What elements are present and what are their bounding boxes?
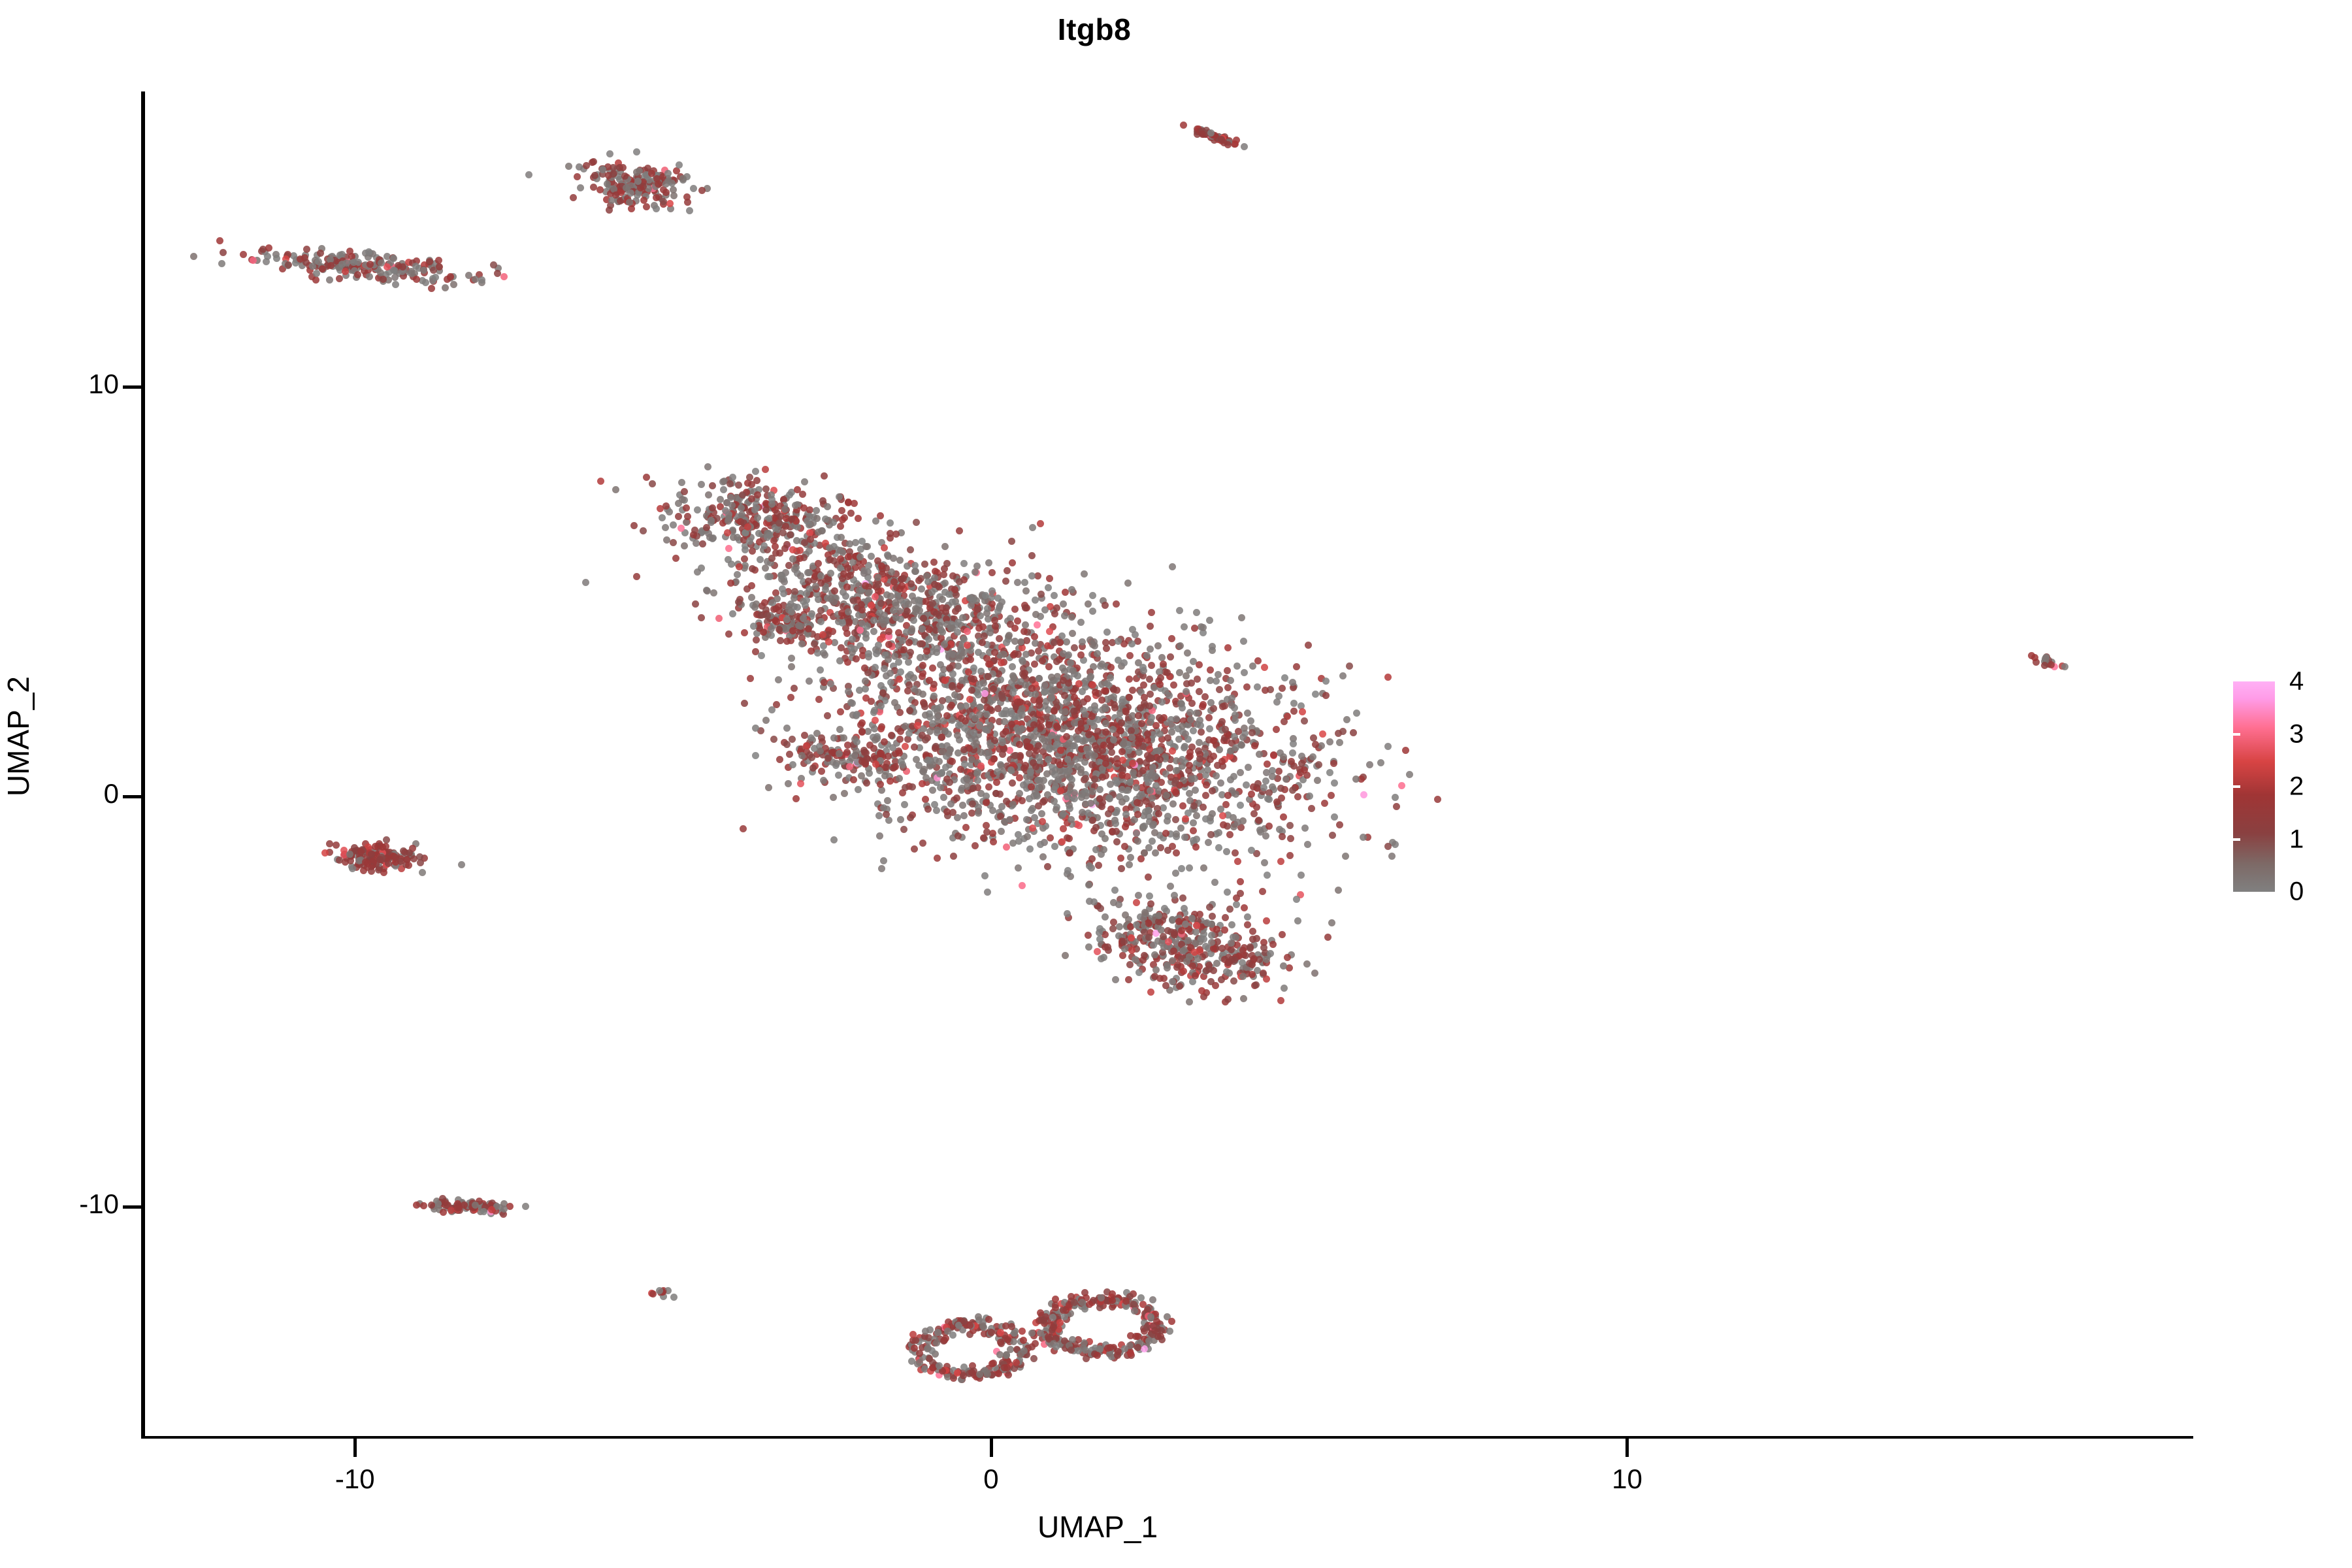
scatter-point <box>1360 791 1367 798</box>
scatter-point <box>977 612 984 619</box>
scatter-point <box>1051 610 1058 617</box>
scatter-point <box>420 1202 427 1209</box>
scatter-point <box>220 249 227 256</box>
scatter-point <box>896 775 903 782</box>
scatter-point <box>740 825 747 832</box>
scatter-point <box>1079 688 1086 695</box>
scatter-point <box>1062 952 1069 959</box>
scatter-point <box>1009 559 1016 566</box>
scatter-point <box>892 531 900 538</box>
scatter-point <box>788 608 795 615</box>
scatter-point <box>744 523 751 531</box>
scatter-point <box>1181 834 1188 841</box>
scatter-point <box>1144 730 1151 738</box>
scatter-point <box>327 262 335 269</box>
scatter-point <box>1133 899 1140 906</box>
scatter-point <box>837 547 844 554</box>
scatter-point <box>887 777 894 785</box>
scatter-point <box>800 615 807 622</box>
scatter-point <box>1263 975 1270 983</box>
scatter-point <box>1342 853 1349 860</box>
scatter-point <box>1277 785 1284 792</box>
scatter-point <box>894 593 901 600</box>
scatter-point <box>1053 604 1060 612</box>
scatter-point <box>1037 591 1045 598</box>
scatter-point <box>1045 584 1052 591</box>
scatter-point <box>1028 552 1036 559</box>
scatter-point <box>621 172 629 180</box>
scatter-point <box>931 574 938 581</box>
scatter-point <box>798 640 806 647</box>
scatter-point <box>1054 724 1061 731</box>
scatter-point <box>858 728 866 736</box>
scatter-point <box>937 661 944 668</box>
scatter-point <box>803 590 810 597</box>
scatter-point <box>1243 781 1250 789</box>
scatter-point <box>1199 131 1206 138</box>
scatter-point <box>1138 720 1145 727</box>
scatter-point <box>1172 816 1179 823</box>
scatter-point <box>987 629 994 636</box>
scatter-point <box>880 857 887 864</box>
scatter-point <box>1014 579 1021 586</box>
scatter-point <box>1213 960 1220 967</box>
scatter-point <box>955 832 962 840</box>
scatter-point <box>1186 762 1193 769</box>
scatter-point <box>326 276 333 284</box>
scatter-point <box>943 560 951 567</box>
scatter-point <box>1196 661 1203 668</box>
scatter-point <box>570 194 577 201</box>
scatter-point <box>786 751 793 758</box>
plot-panel <box>145 91 2193 1436</box>
scatter-point <box>1135 892 1142 899</box>
scatter-point <box>465 272 472 279</box>
scatter-point <box>1298 753 1305 760</box>
scatter-point <box>1022 621 1029 629</box>
scatter-point <box>662 180 670 188</box>
scatter-point <box>788 515 795 523</box>
scatter-point <box>998 692 1005 699</box>
scatter-point <box>1228 694 1235 702</box>
scatter-point <box>1249 936 1256 943</box>
scatter-point <box>902 723 909 730</box>
scatter-point <box>582 579 589 586</box>
scatter-point <box>1350 729 1357 736</box>
scatter-point <box>583 162 590 169</box>
scatter-point <box>949 683 956 691</box>
scatter-point <box>1015 651 1022 658</box>
scatter-point <box>1179 802 1186 809</box>
scatter-point <box>1067 659 1074 666</box>
scatter-point <box>1039 818 1046 825</box>
scatter-point <box>1129 760 1136 767</box>
scatter-point <box>703 524 710 531</box>
scatter-point <box>1126 779 1134 786</box>
scatter-point <box>1016 728 1023 735</box>
scatter-point <box>349 865 356 872</box>
scatter-point <box>670 1294 678 1301</box>
scatter-point <box>1107 743 1114 750</box>
scatter-point <box>836 750 843 757</box>
scatter-point <box>412 263 419 270</box>
scatter-point <box>1071 742 1078 749</box>
scatter-point <box>862 685 869 693</box>
scatter-point <box>1335 730 1342 737</box>
scatter-point <box>436 263 443 270</box>
scatter-point <box>490 261 497 269</box>
scatter-point <box>843 583 851 591</box>
scatter-point <box>850 776 857 783</box>
scatter-point <box>1233 901 1240 908</box>
scatter-point <box>910 617 917 624</box>
scatter-point <box>1015 864 1022 872</box>
scatter-point <box>858 772 865 779</box>
scatter-point <box>815 696 823 703</box>
scatter-point <box>1152 966 1160 973</box>
scatter-point <box>1098 803 1105 810</box>
scatter-point <box>887 679 894 686</box>
scatter-point <box>808 647 815 655</box>
scatter-point <box>911 743 918 751</box>
scatter-point <box>725 556 732 563</box>
scatter-point <box>1192 787 1199 794</box>
scatter-point <box>633 573 640 580</box>
scatter-point <box>955 605 962 612</box>
scatter-point <box>861 664 868 672</box>
scatter-point <box>1068 613 1075 621</box>
scatter-point <box>862 634 870 642</box>
scatter-point <box>2061 663 2068 670</box>
scatter-point <box>1262 687 1269 694</box>
scatter-point <box>1087 673 1094 680</box>
scatter-point <box>1298 872 1305 879</box>
scatter-point <box>1193 710 1200 717</box>
scatter-point <box>799 491 806 498</box>
scatter-point <box>1213 772 1220 779</box>
scatter-point <box>1170 947 1177 955</box>
scatter-point <box>1343 716 1350 723</box>
scatter-point <box>839 516 846 523</box>
scatter-point <box>1048 674 1055 681</box>
scatter-point <box>1135 749 1143 756</box>
scatter-point <box>936 583 943 591</box>
scatter-point <box>366 273 373 280</box>
scatter-point <box>892 763 899 770</box>
scatter-point <box>868 698 875 705</box>
scatter-point <box>819 631 826 638</box>
scatter-point <box>715 615 723 622</box>
scatter-point <box>1041 797 1048 804</box>
scatter-point <box>899 637 906 644</box>
scatter-point <box>1002 578 1009 585</box>
scatter-point <box>741 629 748 636</box>
scatter-point <box>1175 736 1183 743</box>
scatter-point <box>360 867 367 874</box>
scatter-point <box>1141 849 1148 857</box>
scatter-point <box>1011 606 1019 613</box>
scatter-point <box>442 284 449 291</box>
scatter-point <box>866 742 874 749</box>
scatter-point <box>1176 607 1183 614</box>
scatter-point <box>699 540 706 547</box>
scatter-point <box>991 649 998 656</box>
scatter-point <box>1037 841 1044 848</box>
scatter-point <box>1073 700 1080 707</box>
scatter-point <box>1117 855 1124 862</box>
scatter-point <box>1128 947 1135 954</box>
scatter-point <box>1146 676 1153 683</box>
scatter-point <box>1230 977 1237 985</box>
scatter-point <box>1186 998 1193 1005</box>
scatter-point <box>907 546 914 553</box>
scatter-point <box>1324 934 1331 941</box>
scatter-point <box>643 203 650 210</box>
scatter-point <box>1147 691 1154 698</box>
scatter-point <box>738 511 745 518</box>
scatter-point <box>993 779 1000 786</box>
scatter-point <box>876 767 883 774</box>
scatter-point <box>1026 795 1033 802</box>
scatter-point <box>338 251 346 258</box>
scatter-point <box>681 488 688 495</box>
scatter-point <box>576 163 583 171</box>
scatter-point <box>1060 825 1067 832</box>
scatter-point <box>1173 767 1180 774</box>
scatter-point <box>960 560 968 567</box>
scatter-point <box>838 534 845 541</box>
scatter-point <box>1198 987 1205 994</box>
scatter-point <box>1125 747 1132 754</box>
scatter-point <box>1070 708 1077 715</box>
scatter-point <box>1335 887 1342 894</box>
scatter-point <box>354 271 361 278</box>
scatter-point <box>1164 734 1171 742</box>
scatter-point <box>913 519 920 526</box>
scatter-point <box>1024 833 1031 840</box>
scatter-point <box>929 664 936 672</box>
scatter-point <box>1059 664 1066 672</box>
scatter-point <box>455 1204 463 1211</box>
scatter-point <box>966 696 973 703</box>
scatter-point <box>987 661 994 668</box>
scatter-point <box>842 593 849 600</box>
scatter-point <box>1028 807 1035 814</box>
scatter-point <box>1208 932 1215 939</box>
scatter-point <box>678 525 685 532</box>
scatter-point <box>480 1208 487 1215</box>
scatter-point <box>1179 762 1186 770</box>
scatter-point <box>762 717 770 724</box>
scatter-point <box>612 191 619 199</box>
scatter-point <box>815 596 822 603</box>
scatter-point <box>1071 644 1078 651</box>
scatter-point <box>1176 983 1183 990</box>
scatter-point <box>1103 645 1110 652</box>
scatter-point <box>303 246 310 253</box>
scatter-point <box>1305 642 1312 649</box>
scatter-point <box>1103 629 1111 636</box>
scatter-point <box>880 621 887 628</box>
scatter-point <box>2031 654 2038 661</box>
scatter-point <box>1330 760 1337 767</box>
scatter-point <box>1060 600 1067 608</box>
scatter-point <box>1177 700 1184 707</box>
scatter-point <box>836 493 843 500</box>
scatter-point <box>1352 776 1360 783</box>
scatter-point <box>1095 862 1102 869</box>
scatter-point <box>1030 1355 1037 1362</box>
scatter-point <box>783 741 791 748</box>
scatter-point <box>1203 967 1210 974</box>
scatter-point <box>1105 810 1112 817</box>
scatter-point <box>1036 777 1043 784</box>
scatter-point <box>887 534 894 542</box>
scatter-point <box>1301 766 1308 774</box>
scatter-point <box>1329 832 1336 839</box>
scatter-point <box>847 644 855 651</box>
scatter-point <box>1202 792 1209 799</box>
scatter-point <box>1069 630 1076 637</box>
scatter-point <box>824 503 831 510</box>
scatter-point <box>1065 651 1072 659</box>
scatter-point <box>1121 945 1128 953</box>
scatter-point <box>1221 926 1228 934</box>
scatter-point <box>1034 621 1041 629</box>
scatter-point <box>606 206 613 214</box>
scatter-point <box>1037 520 1044 527</box>
scatter-point <box>907 814 914 821</box>
scatter-point <box>841 790 848 797</box>
scatter-point <box>1085 932 1092 939</box>
scatter-point <box>960 746 968 753</box>
scatter-point <box>426 258 433 265</box>
scatter-point <box>1151 829 1158 836</box>
scatter-point <box>1041 681 1049 689</box>
scatter-point <box>1135 712 1142 719</box>
scatter-point <box>851 500 858 507</box>
scatter-point <box>1208 939 1215 946</box>
scatter-point <box>988 569 996 576</box>
scatter-point <box>1177 642 1184 649</box>
scatter-point <box>853 711 860 718</box>
scatter-point <box>338 261 346 268</box>
scatter-point <box>1237 802 1244 809</box>
scatter-point <box>853 738 860 745</box>
scatter-point <box>1206 617 1213 624</box>
scatter-point <box>1019 797 1026 804</box>
scatter-point <box>375 866 382 874</box>
scatter-point <box>1083 745 1090 753</box>
scatter-point <box>1110 736 1117 743</box>
scatter-point <box>346 851 353 858</box>
scatter-point <box>896 585 904 593</box>
scatter-point <box>1222 726 1229 733</box>
scatter-point <box>923 647 930 655</box>
scatter-point <box>1149 794 1156 802</box>
scatter-point <box>1038 783 1045 791</box>
scatter-point <box>684 513 691 520</box>
scatter-point <box>1162 982 1169 989</box>
scatter-point <box>1102 602 1109 609</box>
scatter-point <box>1151 973 1158 980</box>
scatter-point <box>1021 579 1028 586</box>
scatter-point <box>1384 743 1392 750</box>
scatter-point <box>380 276 387 283</box>
scatter-point <box>1009 779 1016 787</box>
scatter-point <box>853 655 860 662</box>
scatter-point <box>1023 816 1030 823</box>
scatter-point <box>1402 747 1409 754</box>
scatter-point <box>1193 922 1200 929</box>
scatter-point <box>1126 861 1133 868</box>
scatter-point <box>768 632 775 639</box>
scatter-point <box>809 519 817 527</box>
scatter-point <box>1232 140 1239 148</box>
scatter-point <box>1035 742 1042 749</box>
scatter-point <box>1269 767 1276 774</box>
scatter-point <box>1301 825 1309 832</box>
scatter-point <box>846 540 853 547</box>
scatter-point <box>1156 714 1163 721</box>
scatter-point <box>1139 956 1147 964</box>
scatter-point <box>896 749 903 757</box>
scatter-point <box>825 755 832 762</box>
scatter-point <box>974 777 981 784</box>
scatter-point <box>1219 812 1226 819</box>
scatter-point <box>1075 727 1082 734</box>
scatter-point <box>574 173 581 180</box>
scatter-point <box>948 702 955 709</box>
scatter-point <box>1193 812 1200 819</box>
scatter-point <box>333 841 340 849</box>
scatter-point <box>336 857 343 864</box>
scatter-point <box>754 514 761 521</box>
scatter-point <box>1256 826 1264 834</box>
scatter-point <box>1071 789 1078 796</box>
scatter-point <box>1284 954 1291 961</box>
scatter-point <box>1279 685 1286 692</box>
scatter-point <box>793 537 800 544</box>
scatter-point <box>887 593 894 600</box>
scatter-point <box>836 726 843 733</box>
scatter-point <box>817 607 825 614</box>
scatter-point <box>679 496 686 503</box>
scatter-point <box>1171 892 1178 899</box>
scatter-point <box>1215 671 1222 678</box>
scatter-point <box>694 506 701 514</box>
scatter-point <box>1179 894 1186 902</box>
scatter-point <box>939 629 946 636</box>
scatter-point <box>1014 617 1021 625</box>
scatter-point <box>817 747 824 755</box>
scatter-point <box>1227 677 1234 684</box>
scatter-point <box>1184 937 1192 944</box>
scatter-point <box>1194 676 1201 683</box>
scatter-point <box>1089 817 1096 824</box>
scatter-point <box>903 629 910 636</box>
scatter-point <box>877 682 885 689</box>
scatter-point <box>964 642 971 649</box>
scatter-point <box>612 486 619 493</box>
scatter-point <box>895 629 902 636</box>
scatter-point <box>940 794 947 801</box>
scatter-point <box>725 517 732 525</box>
scatter-point <box>789 761 796 768</box>
scatter-point <box>670 539 677 546</box>
scatter-point <box>1119 798 1126 806</box>
scatter-point <box>815 560 822 567</box>
